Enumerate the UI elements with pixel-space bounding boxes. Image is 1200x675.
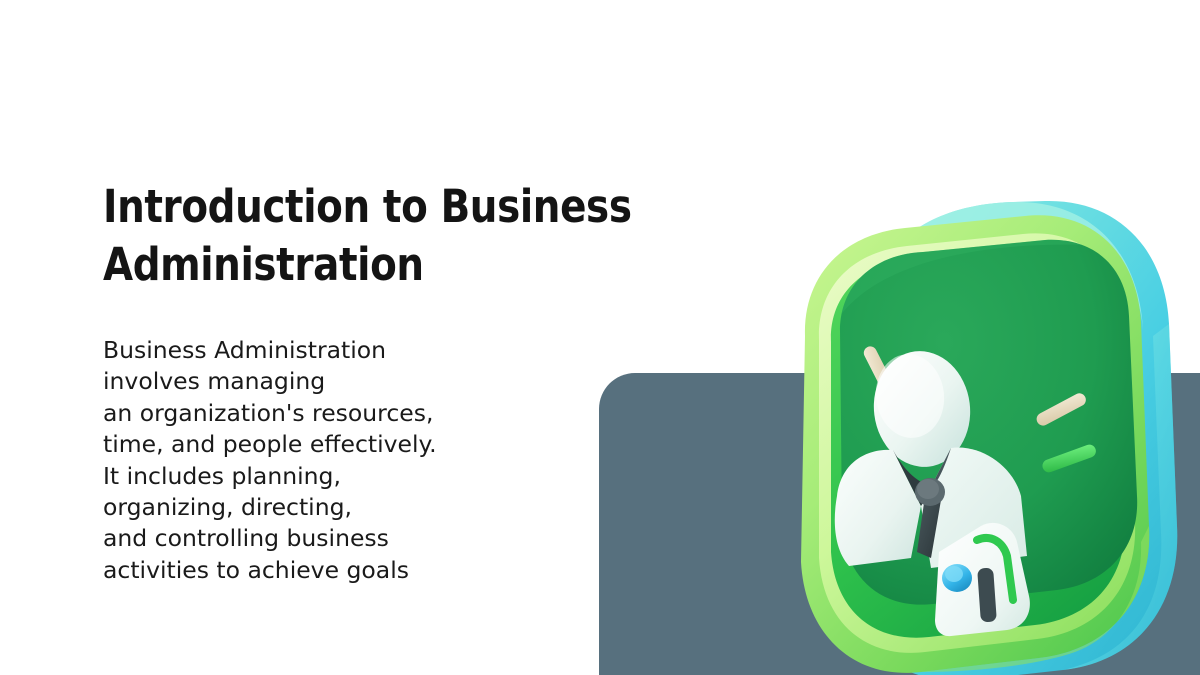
text-column: Introduction to Business Administration … xyxy=(103,178,743,586)
page-title: Introduction to Business Administration xyxy=(103,178,717,294)
business-clock-illustration xyxy=(745,196,1185,675)
slide-canvas: Introduction to Business Administration … xyxy=(0,0,1200,675)
slide-body-text: Business Administration involves managin… xyxy=(103,294,743,586)
